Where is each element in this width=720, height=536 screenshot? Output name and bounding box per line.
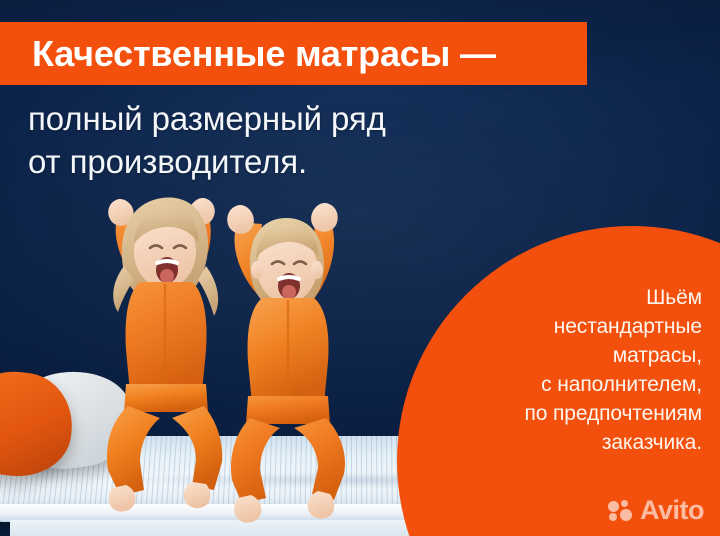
- avito-watermark: Avito: [608, 497, 704, 524]
- subheadline: полный размерный ряд от производителя.: [28, 97, 548, 183]
- circle-copy-line-4: с наполнителем,: [412, 370, 702, 399]
- circle-copy-line-2: нестандартные: [412, 312, 702, 341]
- circle-copy-line-3: матрасы,: [412, 341, 702, 370]
- circle-copy-line-5: по предпочтениям: [412, 399, 702, 428]
- subheadline-line-2: от производителя.: [28, 140, 548, 183]
- circle-copy-block: Шьём нестандартные матрасы, с наполнител…: [412, 283, 702, 457]
- subheadline-line-1: полный размерный ряд: [28, 97, 548, 140]
- child-girl: [107, 197, 222, 511]
- child-boy: [227, 203, 345, 523]
- avito-brand-label: Avito: [640, 497, 704, 524]
- advertisement-banner: Качественные матрасы — полный размерный …: [0, 0, 720, 536]
- headline-title: Качественные матрасы —: [32, 29, 592, 79]
- avito-dots-icon: [608, 500, 634, 522]
- circle-copy-line-1: Шьём: [412, 283, 702, 312]
- circle-copy-line-6: заказчика.: [412, 428, 702, 457]
